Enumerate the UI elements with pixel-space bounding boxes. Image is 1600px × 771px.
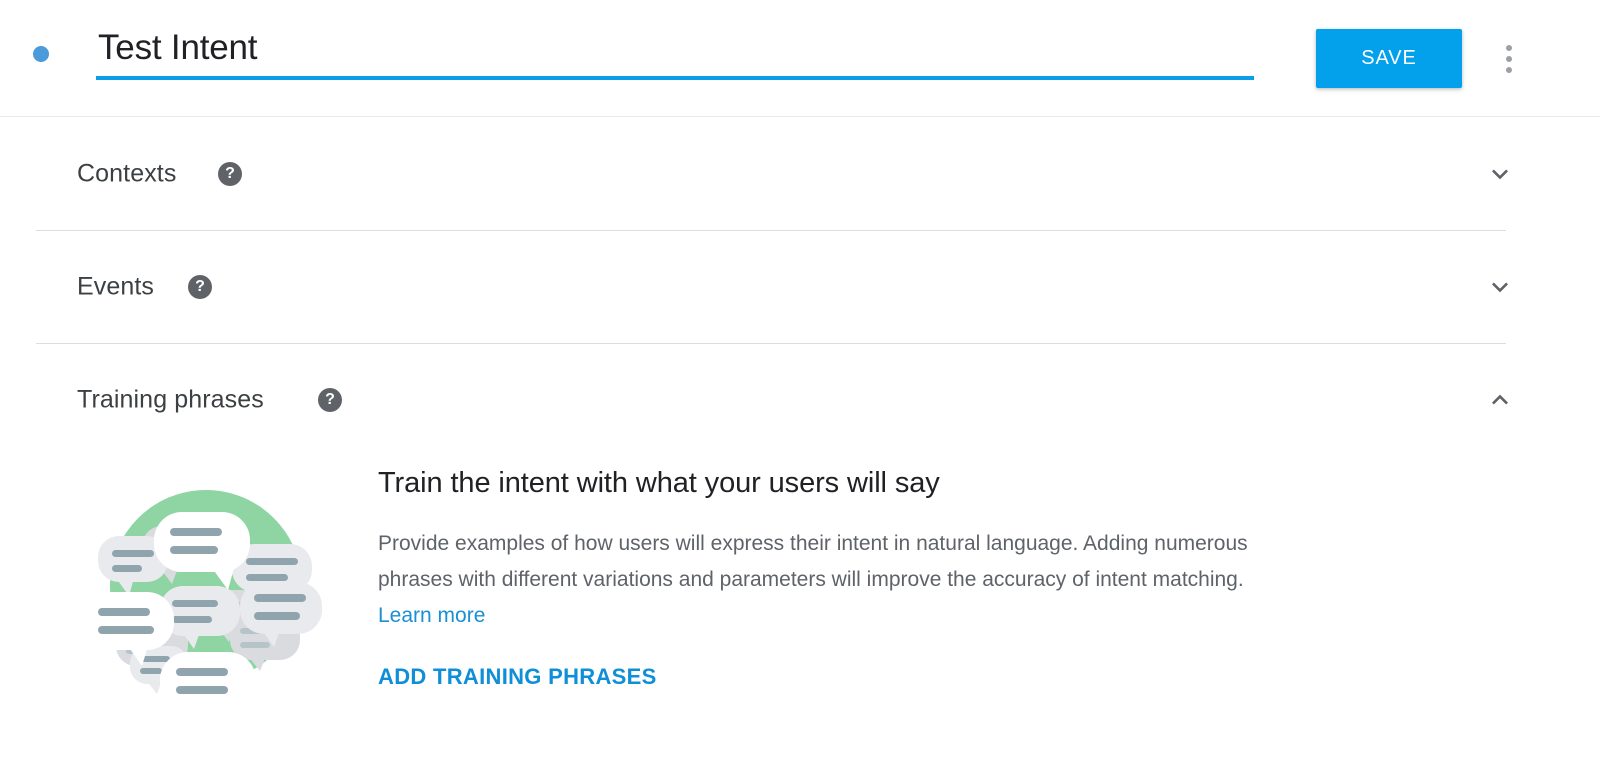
chevron-up-icon[interactable] xyxy=(1480,380,1520,420)
section-header-training-phrases[interactable]: Training phrases ? xyxy=(0,343,1600,456)
dot xyxy=(1506,56,1512,62)
more-options-icon[interactable] xyxy=(1496,37,1522,81)
add-training-phrases-button[interactable]: ADD TRAINING PHRASES xyxy=(378,664,657,690)
section-training-phrases: Training phrases ? xyxy=(0,343,1600,719)
section-contexts: Contexts ? xyxy=(0,117,1600,230)
chevron-down-icon[interactable] xyxy=(1480,267,1520,307)
help-icon[interactable]: ? xyxy=(188,275,212,299)
intent-name-underline xyxy=(96,76,1254,80)
section-header-contexts[interactable]: Contexts ? xyxy=(0,117,1600,230)
empty-state-description: Provide examples of how users will expre… xyxy=(378,526,1268,634)
section-label-events: Events xyxy=(77,272,154,301)
help-icon[interactable]: ? xyxy=(218,162,242,186)
section-label-training-phrases: Training phrases xyxy=(77,385,264,414)
training-phrases-empty-state: Train the intent with what your users wi… xyxy=(0,456,1600,719)
intent-editor-page: SAVE Contexts ? Events ? xyxy=(0,0,1600,771)
dot xyxy=(1506,67,1512,73)
training-phrases-copy: Train the intent with what your users wi… xyxy=(378,464,1278,690)
section-label-contexts: Contexts xyxy=(77,159,176,188)
save-button[interactable]: SAVE xyxy=(1316,29,1462,88)
section-header-events[interactable]: Events ? xyxy=(0,230,1600,343)
help-icon[interactable]: ? xyxy=(318,388,342,412)
intent-name-field-wrapper xyxy=(96,26,1254,80)
intent-header: SAVE xyxy=(0,0,1600,117)
learn-more-link[interactable]: Learn more xyxy=(378,604,485,627)
speech-bubbles-illustration xyxy=(72,464,340,719)
intent-name-input[interactable] xyxy=(96,26,1254,76)
description-text: Provide examples of how users will expre… xyxy=(378,532,1248,591)
empty-state-heading: Train the intent with what your users wi… xyxy=(378,464,1278,502)
dot xyxy=(1506,45,1512,51)
intent-status-dot xyxy=(33,46,49,62)
chevron-down-icon[interactable] xyxy=(1480,154,1520,194)
section-events: Events ? xyxy=(0,230,1600,343)
